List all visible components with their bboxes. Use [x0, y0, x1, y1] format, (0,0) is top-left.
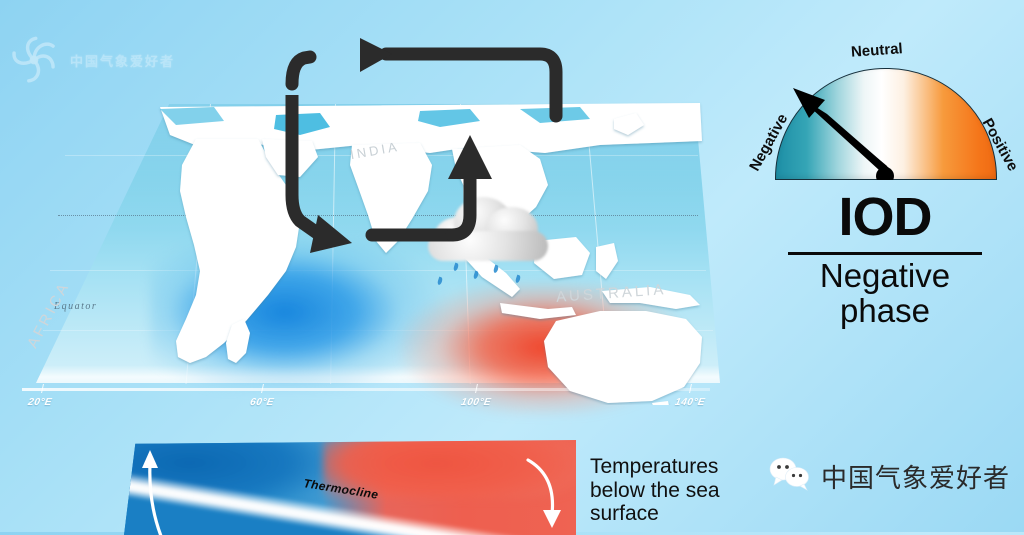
lon-label: 140°E: [674, 397, 706, 408]
cross-section-arrows: [124, 440, 576, 535]
gauge-needle: [775, 70, 995, 180]
wechat-icon: [769, 457, 811, 496]
lon-label: 60°E: [249, 397, 275, 408]
upwelling-arrow-west: [150, 464, 168, 535]
longitude-axis: 20°E 60°E 100°E 140°E: [0, 388, 720, 418]
arrowhead-upper-westward: [360, 38, 392, 72]
rain-cloud: [428, 191, 553, 267]
iod-infographic: 中国气象爱好者 Equator: [0, 0, 1024, 532]
downwelling-arrow-east: [528, 460, 553, 514]
subsurface-cross-section: Thermocline: [124, 440, 576, 535]
wechat-footer: 中国气象爱好者: [769, 457, 1010, 496]
sst-anomaly-map: Equator: [0, 95, 720, 405]
iod-panel: Negative Neutral Positive IOD Negative p…: [754, 56, 1016, 328]
iod-phase-line1: Negative: [754, 259, 1016, 294]
wechat-account-name: 中国气象爱好者: [821, 458, 1010, 495]
watermark-text: 中国气象爱好者: [70, 51, 175, 70]
caption-line3: surface: [590, 502, 775, 526]
gauge-label-neutral: Neutral: [850, 40, 903, 61]
cross-section-caption: Temperatures below the sea surface: [590, 455, 775, 526]
axis-rule: [22, 388, 710, 391]
swirl-logo: [8, 34, 60, 86]
cross-section-body: Thermocline: [124, 440, 576, 535]
caption-line1: Temperatures: [590, 455, 775, 479]
lon-label: 100°E: [460, 397, 492, 408]
lon-label: 20°E: [27, 397, 53, 408]
iod-phase-line2: phase: [754, 294, 1016, 329]
iod-title: IOD: [754, 190, 1016, 244]
iod-phase: Negative phase: [754, 259, 1016, 328]
iod-divider: [788, 252, 982, 255]
arrowhead-downwelling: [543, 510, 561, 528]
landmass-layer: [0, 95, 720, 405]
caption-line2: below the sea: [590, 479, 775, 503]
watermark: 中国气象爱好者: [8, 34, 175, 86]
iod-gauge: Negative Neutral Positive: [767, 56, 1003, 180]
arrowhead-upwelling: [142, 450, 158, 468]
